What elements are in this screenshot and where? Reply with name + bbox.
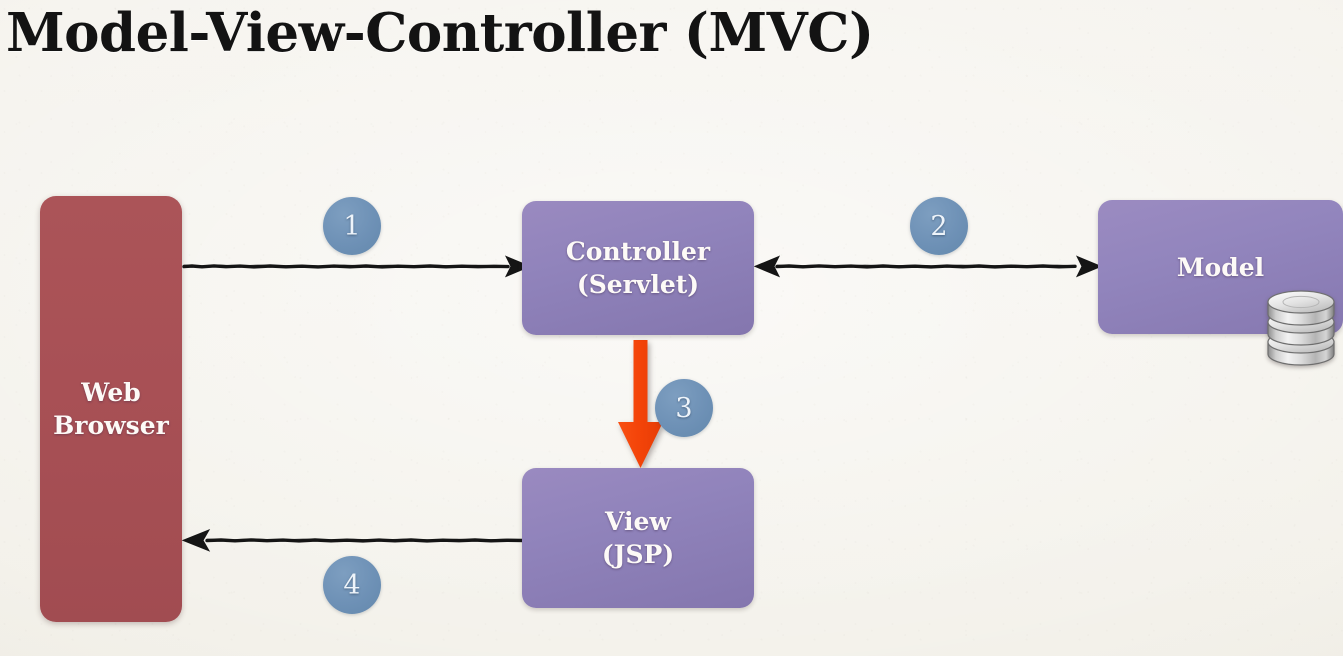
node-controller[interactable]: Controller (Servlet)	[522, 201, 754, 335]
node-view-line2: (JSP)	[602, 538, 674, 571]
mvc-diagram-slide: Model-View-Controller (MVC)	[0, 0, 1343, 656]
step-badge-2-label: 2	[930, 211, 947, 242]
node-controller-line2: (Servlet)	[577, 268, 699, 301]
node-view-line1: View	[605, 505, 671, 538]
step-badge-4: 4	[323, 556, 381, 614]
step-badge-3-label: 3	[675, 393, 692, 424]
node-model-line1: Model	[1177, 251, 1264, 284]
database-icon	[1262, 286, 1340, 366]
node-web-browser-line1: Web	[81, 376, 140, 409]
step-badge-3: 3	[655, 379, 713, 437]
step-badge-1-label: 1	[343, 211, 360, 242]
node-web-browser-line2: Browser	[53, 409, 169, 442]
node-web-browser[interactable]: Web Browser	[40, 196, 182, 622]
node-controller-line1: Controller	[566, 235, 710, 268]
step-badge-4-label: 4	[343, 570, 360, 601]
step-badge-2: 2	[910, 197, 968, 255]
node-view[interactable]: View (JSP)	[522, 468, 754, 608]
step-badge-1: 1	[323, 197, 381, 255]
arrow-view-to-browser	[185, 522, 530, 558]
page-title: Model-View-Controller (MVC)	[6, 2, 874, 64]
